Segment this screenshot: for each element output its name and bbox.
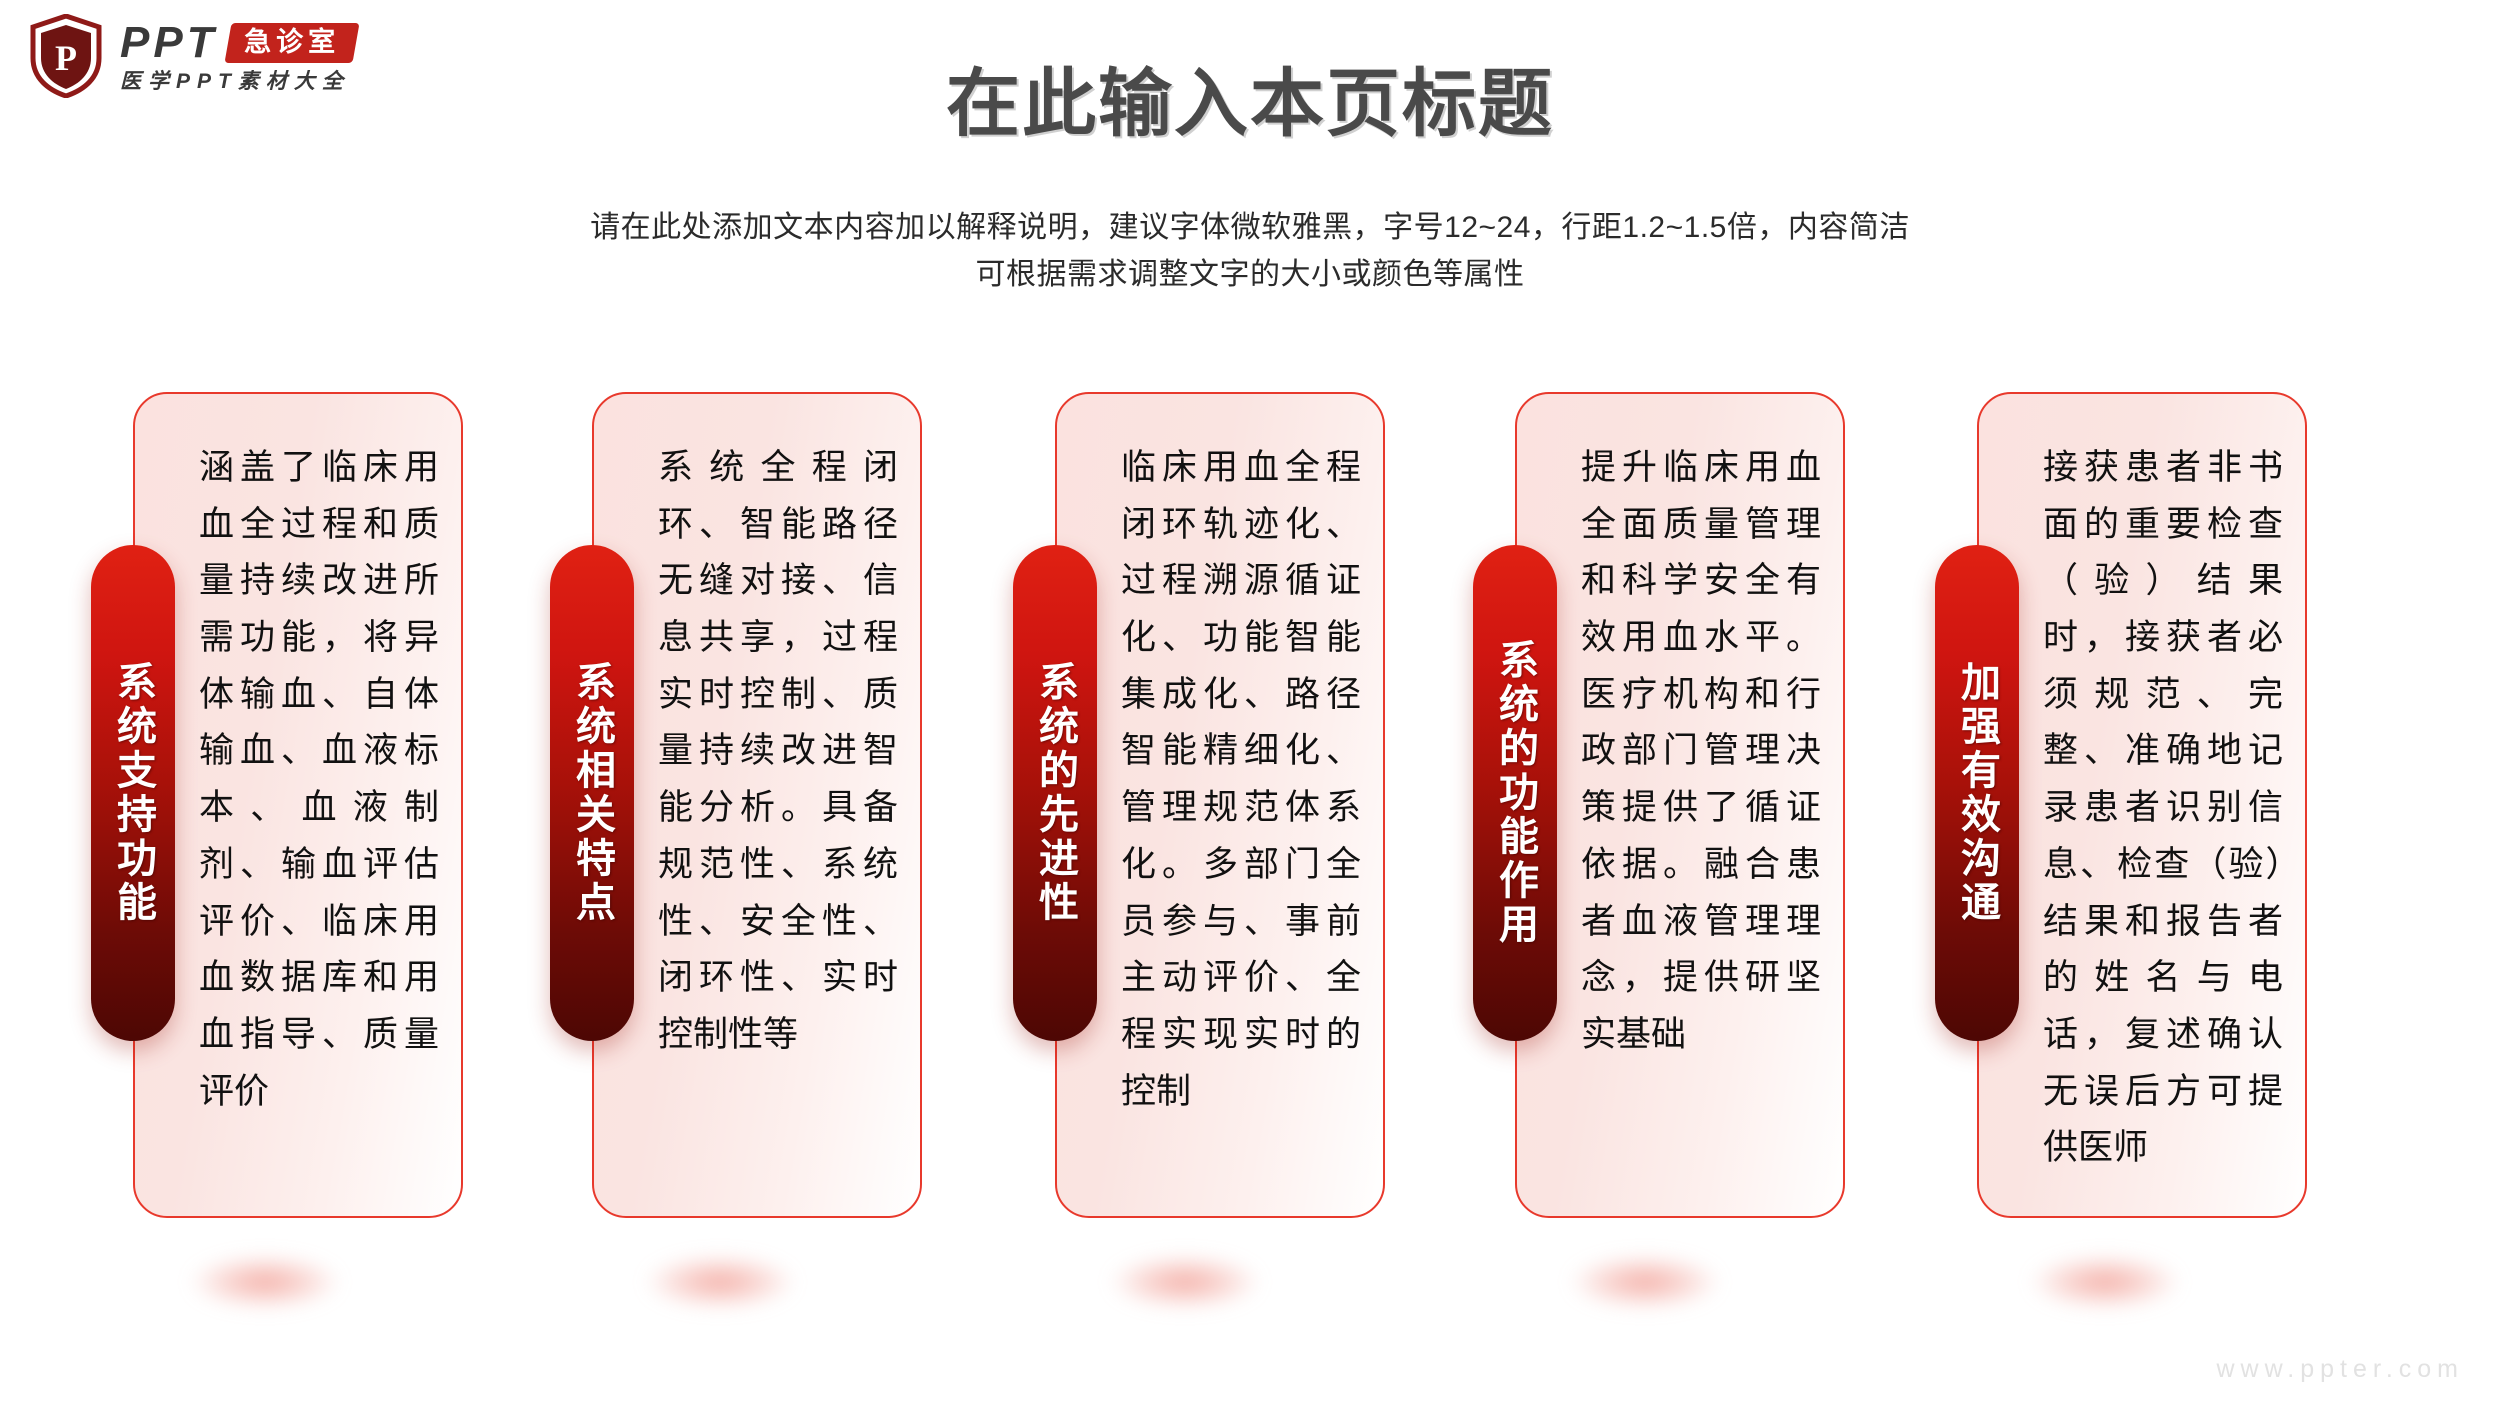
card-body-text: 接获患者非书面的重要检查（验）结果时，接获者必须规范、完整、准确地记录患者识别信… [2043, 440, 2283, 1177]
card-label-pill[interactable]: 系统的先进性 [1013, 545, 1097, 1041]
card-shadow [645, 1255, 795, 1309]
info-card[interactable]: 接获患者非书面的重要检查（验）结果时，接获者必须规范、完整、准确地记录患者识别信… [1977, 392, 2307, 1218]
card-body-text: 提升临床用血全面质量管理和科学安全有效用血水平。医疗机构和行政部门管理决策提供了… [1581, 440, 1821, 1064]
card-label-pill[interactable]: 系统支持功能 [91, 545, 175, 1041]
card-label-pill[interactable]: 加强有效沟通 [1935, 545, 2019, 1041]
card-label-pill[interactable]: 系统的功能作用 [1473, 545, 1557, 1041]
card-shadow [1570, 1255, 1720, 1309]
card-body-text: 临床用血全程闭环轨迹化、过程溯源循证化、功能智能集成化、路径智能精细化、管理规范… [1121, 440, 1361, 1120]
site-watermark: www.ppter.com [2216, 1355, 2464, 1384]
card-body-text: 涵盖了临床用血全过程和质量持续改进所需功能，将异体输血、自体输血、血液标本、血液… [199, 440, 439, 1120]
card-label-pill[interactable]: 系统相关特点 [550, 545, 634, 1041]
info-card[interactable]: 提升临床用血全面质量管理和科学安全有效用血水平。医疗机构和行政部门管理决策提供了… [1515, 392, 1845, 1218]
card-shadow [2030, 1255, 2180, 1309]
card-label-text: 系统的功能作用 [1491, 639, 1539, 947]
card-label-text: 系统相关特点 [568, 661, 616, 925]
card-label-text: 系统支持功能 [109, 661, 157, 925]
card-shadow [1110, 1255, 1260, 1309]
card-row: 涵盖了临床用血全过程和质量持续改进所需功能，将异体输血、自体输血、血液标本、血液… [0, 0, 2500, 1406]
card-label-text: 加强有效沟通 [1953, 661, 2001, 925]
info-card[interactable]: 涵盖了临床用血全过程和质量持续改进所需功能，将异体输血、自体输血、血液标本、血液… [133, 392, 463, 1218]
card-shadow [190, 1255, 340, 1309]
card-label-text: 系统的先进性 [1031, 661, 1079, 925]
info-card[interactable]: 临床用血全程闭环轨迹化、过程溯源循证化、功能智能集成化、路径智能精细化、管理规范… [1055, 392, 1385, 1218]
info-card[interactable]: 系统全程闭环、智能路径无缝对接、信息共享，过程实时控制、质量持续改进智能分析。具… [592, 392, 922, 1218]
card-body-text: 系统全程闭环、智能路径无缝对接、信息共享，过程实时控制、质量持续改进智能分析。具… [658, 440, 898, 1064]
